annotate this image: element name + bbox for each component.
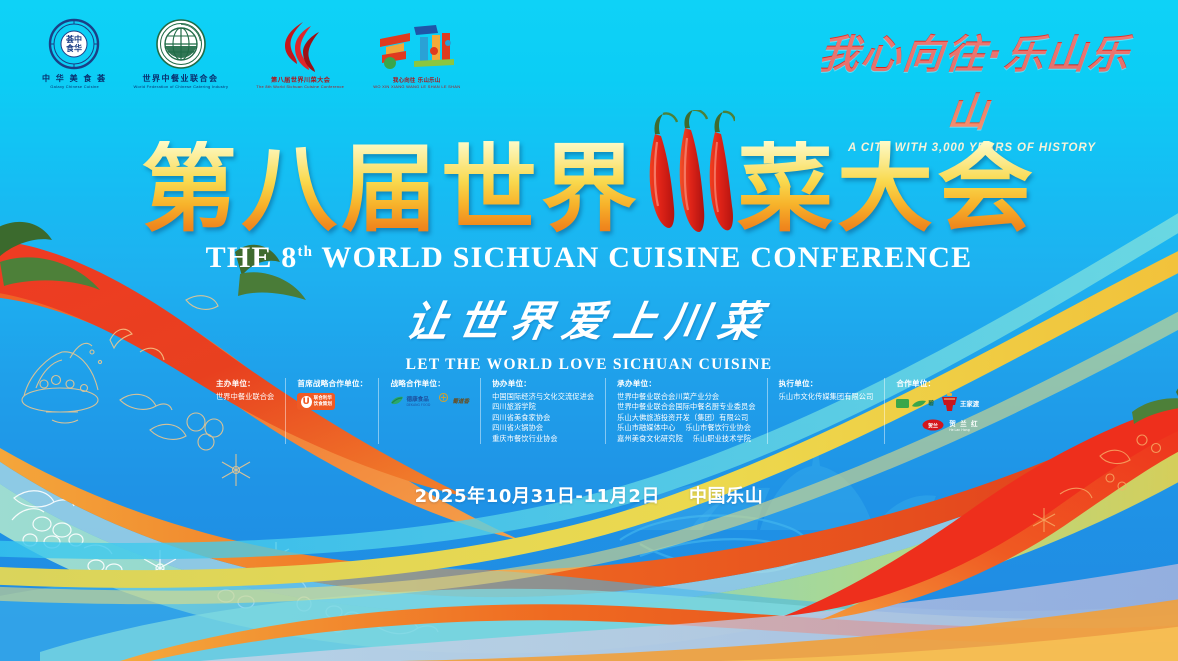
city-slogan-cn: 我心向往·乐山乐山: [796, 22, 1148, 138]
partner-logo-cn: 贺 兰 红: [949, 418, 978, 428]
partner-logo-cn: 蜀道香: [452, 397, 469, 405]
event-place: 中国乐山: [689, 486, 763, 507]
chili-trio-icon: [643, 110, 735, 240]
chinese-cuisine-gathering-seal-logo: 荟中 食华: [48, 18, 100, 70]
org-column-co-organizer: 协办单位： 中国国际经济与文化交流促进会 四川旅游学院 四川省美食家协会 四川省…: [480, 378, 605, 444]
main-title-en: THE 8th WORLD SICHUAN CUISINE CONFERENCE: [0, 241, 1178, 275]
calligraphy-slogan-cn: 让世界爱上川菜: [0, 288, 1178, 349]
green-brand-icon: [896, 397, 926, 410]
sichuan-cuisine-conference-flame-logo: [273, 20, 329, 72]
calligraphy-slogan-en: LET THE WORLD LOVE SICHUAN CUISINE: [0, 356, 1178, 374]
unilever-food-solutions-logo: U 联合利华 饮食策划: [297, 393, 335, 410]
main-title-cn-part1: 第八届世界: [141, 141, 641, 237]
org-heading: 主办单位：: [216, 378, 274, 389]
org-item: 乐山大佛旅游投资开发（集团）有限公司: [617, 413, 755, 423]
green-brand-logo: 碧: [896, 397, 934, 410]
calligraphy-slogan: 让世界爱上川菜 LET THE WORLD LOVE SICHUAN CUISI…: [0, 288, 1178, 374]
org-item: 世界中餐业联合会: [216, 392, 274, 402]
org-item: 四川省美食家协会: [492, 413, 594, 423]
partner-logo-cn: 碧: [928, 399, 934, 407]
wang-jia-du-logo: 王家渡: [941, 393, 979, 413]
org-column-strategic-partner: 战略合作单位： 德康食品 DEKANG FOOD: [378, 378, 480, 444]
logo-caption-cn: 第八届世界川菜大会: [271, 75, 330, 84]
org-heading: 协办单位：: [492, 378, 594, 389]
logo-caption-cn: 中 华 美 食 荟: [42, 73, 107, 84]
dekang-leaf-icon: [390, 394, 404, 408]
org-item-pair: 嘉州美食文化研究院 乐山职业技术学院: [617, 434, 755, 444]
shu-dao-xiang-logo: 蜀道香: [437, 393, 469, 409]
main-title-en-ordinal: th: [297, 244, 313, 260]
org-heading: 承办单位：: [617, 378, 755, 389]
svg-text:荟中: 荟中: [65, 34, 82, 44]
wang-jia-du-icon: [941, 393, 958, 413]
org-item: 乐山职业技术学院: [693, 434, 751, 444]
conference-poster: 荟中 食华 中 华 美 食 荟 Galaxy Chinese Cuisine: [0, 0, 1178, 661]
logo-caption-cn: 世界中餐业联合会: [143, 73, 219, 84]
svg-text:贺兰: 贺兰: [927, 423, 938, 430]
org-logo-group: U 联合利华 饮食策划: [297, 393, 367, 410]
logo-sichuan-cuisine-conference: 第八届世界川菜大会 The 8th World Sichuan Cuisine …: [254, 20, 346, 89]
partner-logo-en: 饮食策划: [314, 402, 332, 407]
event-date: 2025年10月31日-11月2日: [415, 486, 660, 507]
he-lan-hong-seal-icon: 贺兰: [922, 419, 944, 431]
logo-world-chinese-catering-federation: 世界中餐业联合会 World Federation of Chinese Cat…: [131, 18, 231, 89]
org-item: 中国国际经济与文化交流促进会: [492, 392, 594, 402]
unilever-u-icon: U: [301, 396, 312, 408]
logo-caption-cn: 我心向往 乐山乐山: [393, 76, 441, 84]
he-lan-hong-logo: 贺兰 贺 兰 红 He Lan Hong: [896, 418, 1004, 432]
org-column-host: 主办单位： 世界中餐业联合会: [205, 378, 285, 444]
org-logo-group: 德康食品 DEKANG FOOD 蜀道香: [390, 393, 469, 409]
logo-caption-en: The 8th World Sichuan Cuisine Conference: [257, 84, 345, 89]
org-heading: 战略合作单位：: [390, 378, 469, 389]
world-chinese-catering-federation-globe-logo: [155, 18, 207, 70]
org-logo-group: 碧 王家渡 贺兰 贺: [896, 393, 1004, 432]
partner-logo-cn: 德康食品: [406, 395, 430, 403]
org-item: 嘉州美食文化研究院: [617, 434, 683, 444]
org-column-executor: 执行单位： 乐山市文化传媒集团有限公司: [767, 378, 885, 444]
main-title-cn-part2: 菜大会: [737, 141, 1037, 237]
org-column-cooperation: 合作单位： 碧 王家渡: [884, 378, 1015, 444]
org-item: 重庆市餐饮行业协会: [492, 434, 594, 444]
main-title: 第八届世界: [0, 124, 1178, 254]
sponsor-logo-row: 荟中 食华 中 华 美 食 荟 Galaxy Chinese Cuisine: [42, 18, 463, 89]
partner-logo-en: He Lan Hong: [949, 428, 978, 432]
org-column-organizer: 承办单位： 世界中餐业联合会川菜产业分会 世界中餐业联合会国际中餐名厨专业委员会…: [605, 378, 766, 444]
org-item: 世界中餐业联合会国际中餐名厨专业委员会: [617, 402, 755, 412]
org-item: 四川省火锅协会: [492, 423, 594, 433]
leshan-city-tourism-brand-logo: [376, 21, 458, 73]
org-item: 四川旅游学院: [492, 402, 594, 412]
dekang-food-group-logo: 德康食品 DEKANG FOOD: [390, 394, 430, 408]
partner-logo-cn: 联合利华: [314, 396, 332, 401]
logo-chinese-cuisine-gathering: 荟中 食华 中 华 美 食 荟 Galaxy Chinese Cuisine: [42, 18, 107, 89]
logo-caption-en: World Federation of Chinese Catering Ind…: [133, 84, 228, 89]
svg-text:食华: 食华: [66, 43, 82, 53]
org-item: 乐山市餐饮行业协会: [685, 423, 751, 433]
org-column-chief-strategic-partner: 首席战略合作单位： U 联合利华 饮食策划: [285, 378, 378, 444]
main-title-en-prefix: THE 8: [206, 241, 298, 274]
logo-caption-en: Galaxy Chinese Cuisine: [50, 84, 99, 89]
org-heading: 首席战略合作单位：: [297, 378, 367, 389]
logo-leshan-tourism-brand: 我心向往 乐山乐山 WO XIN XIANG WANG LE SHAN LE S…: [371, 21, 463, 89]
org-item: 乐山市文化传媒集团有限公司: [779, 392, 874, 402]
partner-logo-en: DEKANG FOOD: [406, 403, 430, 407]
org-item-pair: 乐山市融媒体中心 乐山市餐饮行业协会: [617, 423, 755, 433]
shu-dao-xiang-seal-icon: [437, 393, 450, 409]
org-heading: 执行单位：: [779, 378, 874, 389]
logo-caption-en: WO XIN XIANG WANG LE SHAN LE SHAN: [373, 84, 460, 89]
organizer-credits: 主办单位： 世界中餐业联合会 首席战略合作单位： U 联合利华 饮食策划 战略合…: [205, 378, 1015, 444]
org-item: 世界中餐业联合会川菜产业分会: [617, 392, 755, 402]
event-dateline: 2025年10月31日-11月2日 中国乐山: [0, 482, 1178, 508]
partner-logo-cn: 王家渡: [960, 399, 979, 408]
org-heading: 合作单位：: [896, 378, 1004, 389]
main-title-en-rest: WORLD SICHUAN CUISINE CONFERENCE: [313, 241, 972, 274]
org-item: 乐山市融媒体中心: [617, 423, 675, 433]
